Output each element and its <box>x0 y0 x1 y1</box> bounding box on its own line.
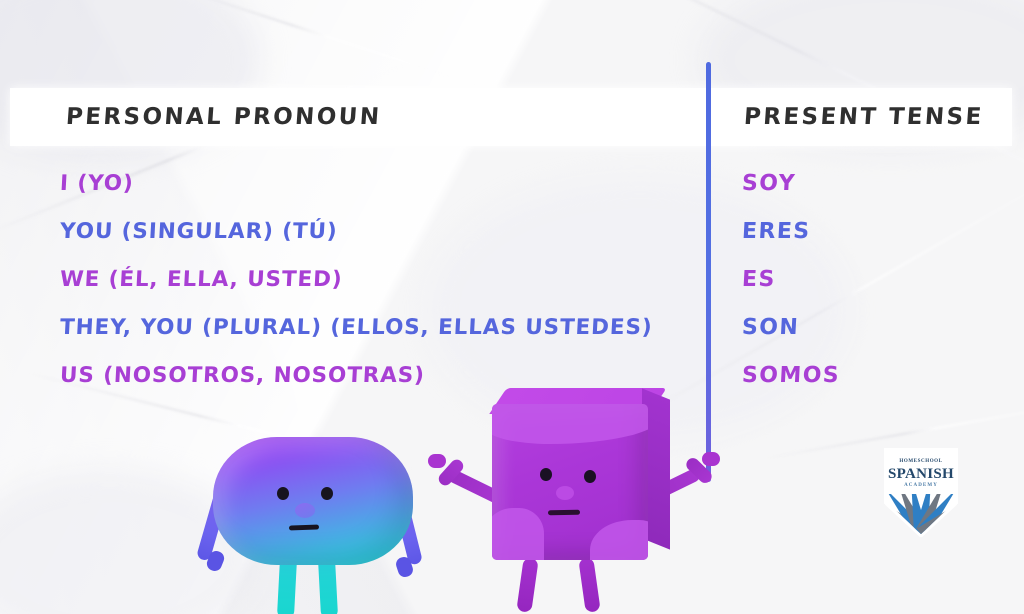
blob-mouth <box>289 524 319 530</box>
cube-highlight <box>492 404 648 444</box>
cube-right-eye <box>584 470 596 483</box>
cube-right-leg <box>578 557 600 613</box>
slide-canvas: PERSONAL PRONOUN PRESENT TENSE I (YO) YO… <box>0 0 1024 614</box>
cube-left-leg <box>516 557 538 613</box>
table-row: ERES <box>741 208 1004 256</box>
table-row: ES <box>741 256 1004 304</box>
blob-left-eye <box>277 487 289 500</box>
logo-top-text: HOMESCHOOL <box>888 459 954 464</box>
cube-character <box>448 380 738 614</box>
logo-bottom-text: ACADEMY <box>888 483 954 488</box>
cube-mouth <box>548 510 580 516</box>
blob-character <box>185 415 450 614</box>
logo-main-text: SPANISH <box>888 466 954 483</box>
table-row: YOU (SINGULAR) (TÚ) <box>59 208 702 256</box>
table-row: SOMOS <box>741 352 1004 400</box>
table-row: SOY <box>741 160 1004 208</box>
table-row: THEY, YOU (PLURAL) (ELLOS, ELLAS USTEDES… <box>59 304 702 352</box>
cube-highlight <box>590 520 648 560</box>
pronoun-column: I (YO) YOU (SINGULAR) (TÚ) WE (ÉL, ELLA,… <box>60 160 700 400</box>
cube-highlight <box>492 508 544 560</box>
cube-right-hand <box>702 452 720 466</box>
column-header-present-tense: PRESENT TENSE <box>743 104 984 130</box>
tense-column: SOY ERES ES SON SOMOS <box>742 160 1002 400</box>
cube-left-eye <box>540 468 552 481</box>
column-header-personal-pronoun: PERSONAL PRONOUN <box>65 104 382 130</box>
table-row: SON <box>741 304 1004 352</box>
table-row: I (YO) <box>59 160 702 208</box>
blob-right-eye <box>321 487 333 500</box>
cube-nose <box>556 486 574 500</box>
shield-inner: HOMESCHOOL SPANISH ACADEMY <box>888 452 954 534</box>
table-row: WE (ÉL, ELLA, USTED) <box>59 256 702 304</box>
cube-front-face <box>492 404 648 560</box>
blob-body <box>213 437 413 565</box>
blob-nose <box>295 503 315 518</box>
cube-left-hand <box>428 454 446 468</box>
homeschool-spanish-academy-logo: HOMESCHOOL SPANISH ACADEMY <box>884 448 958 538</box>
